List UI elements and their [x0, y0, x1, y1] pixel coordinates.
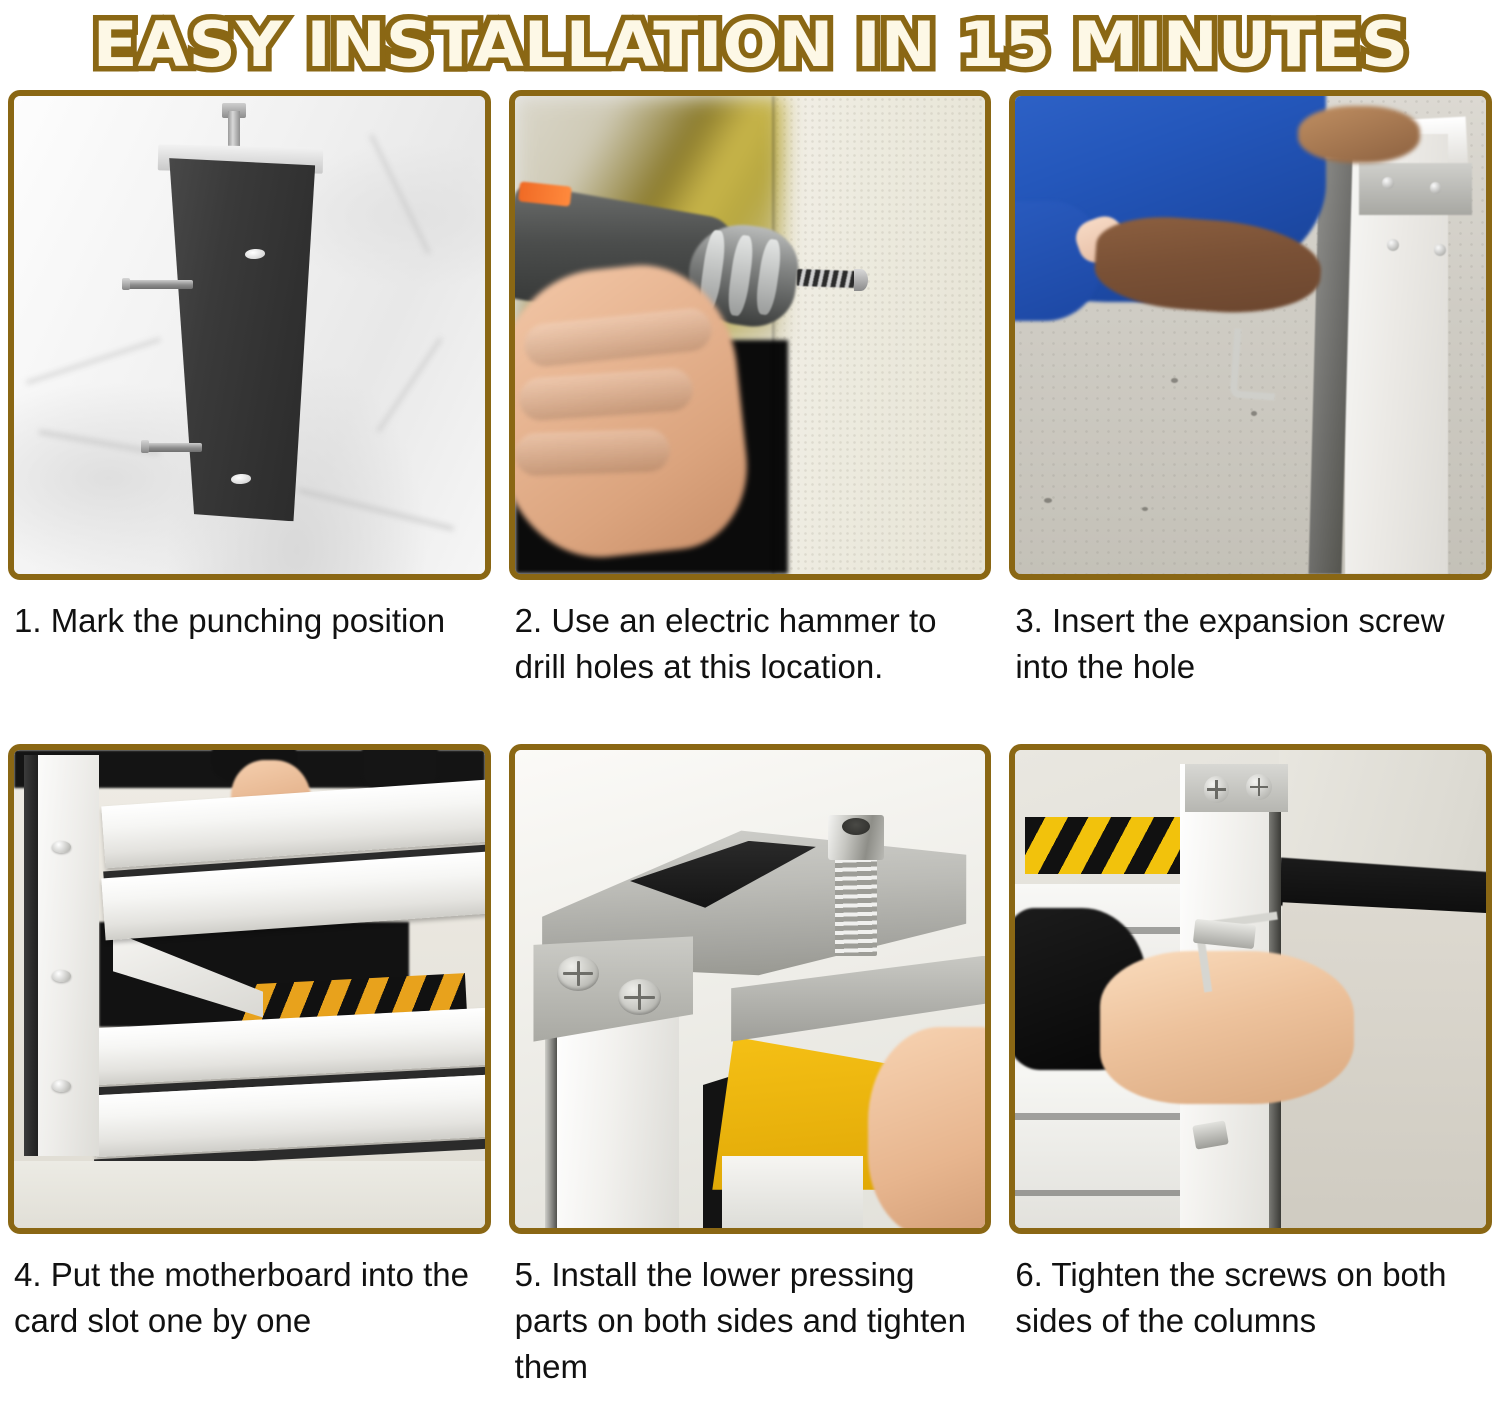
- hazard-stripe-tape: [1025, 817, 1194, 874]
- lower-board: [722, 1156, 863, 1228]
- phillips-screw: [1204, 776, 1230, 802]
- expansion-stud-upper: [127, 280, 193, 289]
- step-card-2: 2. Use an electric hammer to drill holes…: [509, 90, 992, 726]
- page-title: EASY INSTALLATION IN 15 MINUTES: [92, 14, 1407, 76]
- wall-edge: [772, 96, 778, 574]
- column-bracket: [1359, 163, 1472, 216]
- floor: [14, 1161, 485, 1228]
- step-1-caption: 1. Mark the punching position: [8, 580, 491, 726]
- step-4-caption: 4. Put the motherboard into the card slo…: [8, 1234, 491, 1404]
- board-seam: [1015, 1190, 1194, 1197]
- row-spacer: [0, 726, 1500, 744]
- step-6-photo: [1009, 744, 1492, 1234]
- step-5-caption: 5. Install the lower pressing parts on b…: [509, 1234, 992, 1404]
- step-card-6: 6. Tighten the screws on both sides of t…: [1009, 744, 1492, 1404]
- step-3-photo: [1009, 90, 1492, 580]
- phillips-screw: [618, 979, 660, 1015]
- stud-tip-upper: [122, 278, 130, 290]
- step-2-photo: [509, 90, 992, 580]
- step-6-caption: 6. Tighten the screws on both sides of t…: [1009, 1234, 1492, 1404]
- top-bracket: [1185, 764, 1289, 812]
- white-column-with-slots: [38, 755, 99, 1157]
- step-4-photo: [8, 744, 491, 1234]
- step-card-3: 3. Insert the expansion screw into the h…: [1009, 90, 1492, 726]
- drill-bit: [797, 269, 859, 288]
- step-card-5: 5. Install the lower pressing parts on b…: [509, 744, 992, 1404]
- step-card-4: 4. Put the motherboard into the card slo…: [8, 744, 491, 1404]
- drill-bit-tip: [854, 269, 868, 291]
- expansion-stud-lower: [146, 443, 202, 452]
- finger: [515, 428, 671, 476]
- allen-key-on-floor: [1229, 329, 1278, 401]
- wall-surface: [774, 96, 986, 574]
- board-seam: [1015, 1113, 1194, 1120]
- steps-row-top: 1. Mark the punching position: [0, 90, 1500, 726]
- bracket-screw: [1430, 182, 1442, 194]
- stud-tip-lower: [141, 440, 149, 452]
- upper-hand: [1298, 106, 1420, 163]
- steps-row-bottom: 4. Put the motherboard into the card slo…: [0, 744, 1500, 1404]
- threaded-bolt-shaft: [835, 850, 877, 955]
- step-3-caption: 3. Insert the expansion screw into the h…: [1009, 580, 1492, 726]
- step-1-photo: [8, 90, 491, 580]
- floor-speck: [1044, 498, 1052, 503]
- bracket-screw: [1434, 244, 1446, 256]
- step-2-caption: 2. Use an electric hammer to drill holes…: [509, 580, 992, 726]
- floor-speck: [1171, 378, 1178, 383]
- bolt-hex-socket: [842, 818, 870, 835]
- step-card-1: 1. Mark the punching position: [8, 90, 491, 726]
- phillips-screw: [1246, 774, 1272, 800]
- header-banner: EASY INSTALLATION IN 15 MINUTES: [0, 0, 1500, 90]
- step-5-photo: [509, 744, 992, 1234]
